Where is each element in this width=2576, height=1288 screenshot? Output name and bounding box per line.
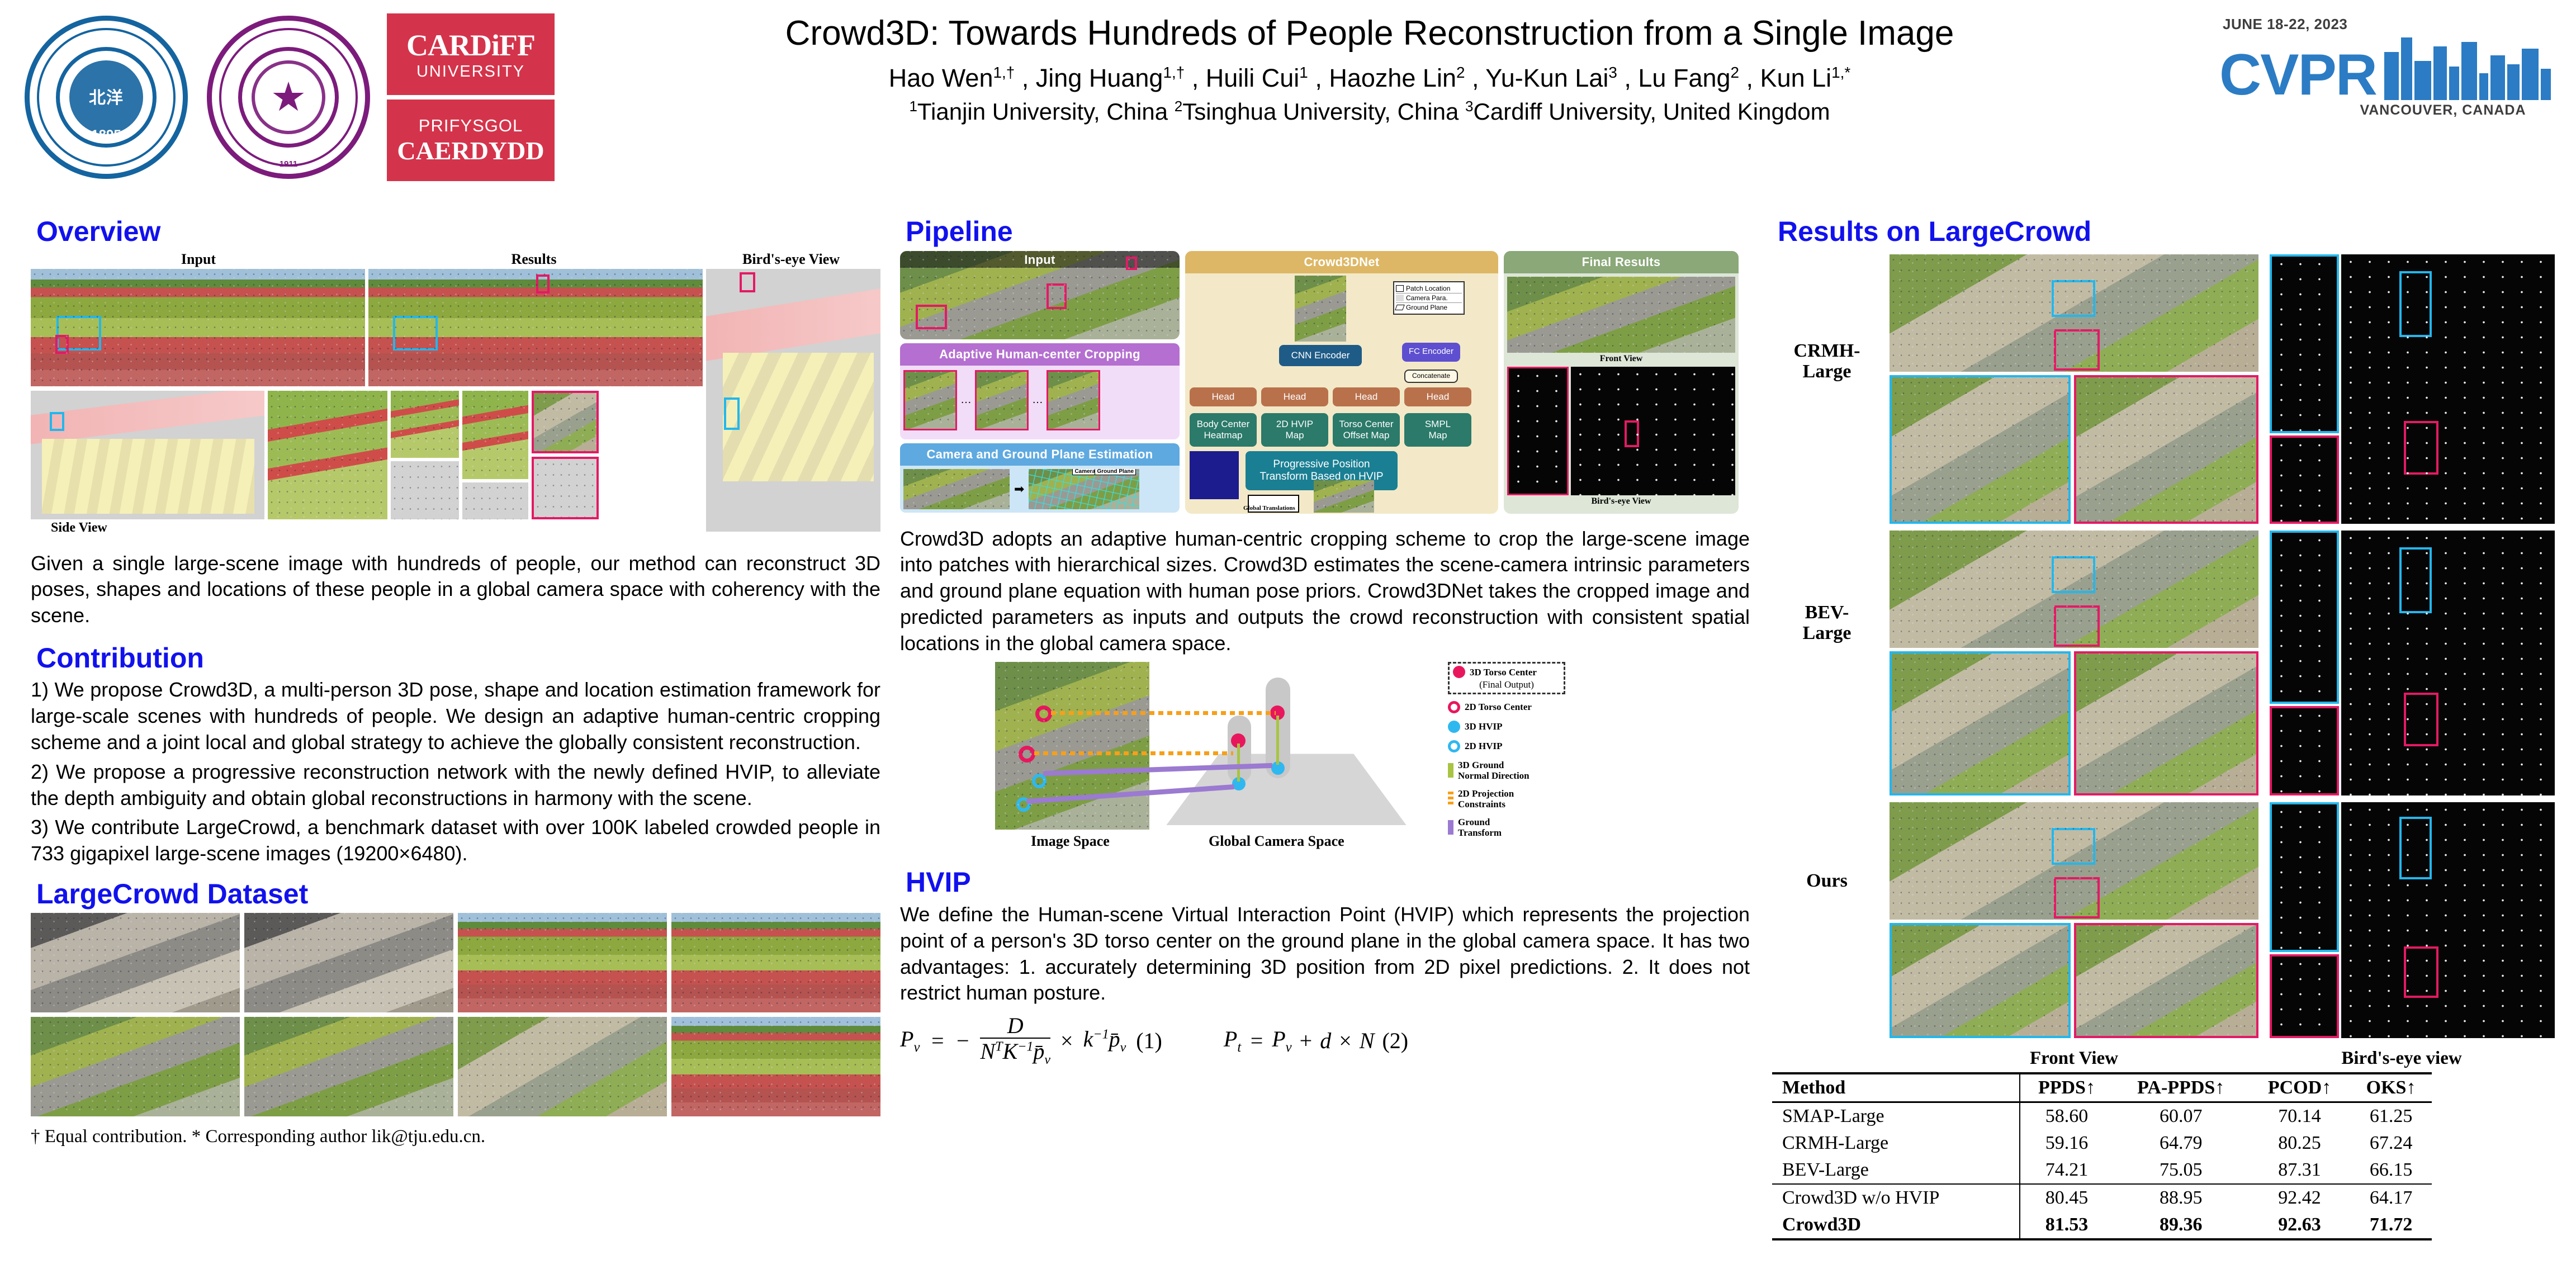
overview-birdseye-image [706, 269, 880, 532]
ground-normal-arrow [1276, 716, 1279, 765]
pipeline-final-label: Final Results [1504, 251, 1739, 273]
table-cell-value: 59.16 [2020, 1130, 2113, 1157]
poster-header: 北洋 1895 ★ 1911 CARDiFF UNIVERSITY PRIFYS… [0, 0, 2576, 207]
2d-torso-center-marker [1035, 705, 1052, 722]
3d-hvip-icon [1448, 721, 1460, 733]
2d-torso-center-icon [1448, 701, 1460, 713]
2d-torso-center-marker [1019, 746, 1035, 763]
table-row: BEV-Large74.2175.0587.3166.15 [1772, 1157, 2432, 1184]
dataset-image [458, 913, 667, 1012]
overview-figure: Side View [31, 269, 880, 532]
magenta-roi-box [1625, 420, 1639, 447]
results-bev-magenta-ours [2270, 954, 2339, 1038]
magenta-roi-box [1046, 283, 1067, 309]
hvip-figure: 3D Torso Center (Final Output) 2D Torso … [995, 662, 1565, 846]
magenta-roi-box [2054, 877, 2100, 918]
projection-constraint-line [1034, 751, 1233, 755]
hvip-legend: 3D Torso Center (Final Output) 2D Torso … [1448, 662, 1565, 845]
tju-year: 1895 [22, 127, 190, 143]
pipeline-text: Crowd3D adopts an adaptive human-centric… [900, 526, 1750, 657]
crop-patch [1046, 370, 1100, 430]
2d-hvip-icon [1448, 740, 1460, 752]
ground-normal-arrow [1237, 744, 1240, 782]
overview-zoom-crowd-4 [532, 391, 599, 453]
table-cell-value: 58.60 [2020, 1102, 2113, 1130]
cardiff-line4: CAERDYDD [397, 136, 544, 165]
net-input-patch [1295, 276, 1346, 342]
results-bev-magenta-crmh [2270, 435, 2339, 524]
table-cell-method: SMAP-Large [1772, 1102, 2020, 1130]
ground-plane-image: Camera Ground Plane [1029, 469, 1139, 509]
magenta-roi-box [916, 305, 947, 329]
crop-patch [975, 370, 1029, 430]
legend-3d-torso-center: 3D Torso Center [1470, 667, 1537, 678]
cyan-roi-box [50, 412, 64, 431]
legend-ground-plane: Ground Plane [1406, 304, 1447, 311]
tsinghua-university-logo: ★ 1911 [205, 13, 372, 181]
ground-transform-icon [1448, 820, 1453, 835]
hvip-caption-global-space: Global Camera Space [1209, 833, 1344, 850]
pipeline-diagram: Input Adaptive Human-center Cropping … … [900, 251, 1739, 514]
cvpr-dates: JUNE 18-22, 2023 [2223, 16, 2566, 33]
table-cell-value: 89.36 [2113, 1211, 2249, 1239]
results-figure: CRMH- Large BEV- Large Ours [1772, 251, 2555, 1045]
results-zoom-cyan-ours [1890, 923, 2071, 1038]
pipeline-heading: Pipeline [906, 217, 1750, 247]
caption-sideview: Side View [51, 520, 107, 536]
dataset-gallery [31, 913, 880, 1116]
cvpr-brand: CVPR [2219, 50, 2376, 100]
table-cell-method: CRMH-Large [1772, 1130, 2020, 1157]
table-row: SMAP-Large58.6060.0770.1461.25 [1772, 1102, 2432, 1130]
overview-results-image [368, 269, 703, 386]
pipeline-camera-label: Camera and Ground Plane Estimation [900, 443, 1180, 466]
table-cell-value: 92.42 [2249, 1184, 2350, 1211]
legend-patch-location: Patch Location [1406, 285, 1450, 292]
equation-2: Pt= Pv+ d×N (2) [1224, 1026, 1408, 1055]
head-node-2: Head [1261, 387, 1328, 406]
table-header-row: Method PPDS↑ PA-PPDS↑ PCOD↑ OKS↑ [1772, 1073, 2432, 1102]
3d-torso-center-icon [1453, 666, 1465, 678]
results-bev-cyan-crmh [2270, 254, 2339, 433]
th-oks: OKS↑ [2350, 1073, 2432, 1102]
ground-normal-icon [1448, 763, 1453, 778]
column-left: Overview Input Results Bird's-eye View [31, 217, 880, 1147]
title-block: Crowd3D: Towards Hundreds of People Reco… [537, 13, 2203, 126]
heatmap-thumbnail [1190, 451, 1239, 499]
overview-zoom-mesh-3 [532, 457, 599, 519]
caption-front-view: Front View [1890, 1048, 2258, 1069]
table-cell-value: 67.24 [2350, 1130, 2432, 1157]
legend-2d-torso-center: 2D Torso Center [1465, 702, 1532, 712]
final-bev-image [1571, 367, 1735, 495]
cardiff-line3: PRIFYSGOL [419, 116, 523, 136]
legend-camera-para: Camera Para. [1406, 294, 1448, 302]
overview-zoom-mesh-2 [462, 482, 528, 519]
table-row: Crowd3D w/o HVIP80.4588.9592.4264.17 [1772, 1184, 2432, 1211]
logo-group: 北洋 1895 ★ 1911 CARDiFF UNIVERSITY PRIFYS… [22, 13, 555, 181]
contribution-item-3: 3) We contribute LargeCrowd, a benchmark… [31, 815, 880, 867]
table-cell-value: 88.95 [2113, 1184, 2249, 1211]
table-cell-method: Crowd3D [1772, 1211, 2020, 1239]
pipeline-cropping-label: Adaptive Human-center Cropping [900, 343, 1180, 366]
cyan-roi-box [2052, 828, 2095, 865]
table-cell-value: 61.25 [2350, 1102, 2432, 1130]
contribution-item-2: 2) We propose a progressive reconstructi… [31, 759, 880, 812]
legend-ground-normal: 3D Ground Normal Direction [1458, 760, 1529, 781]
dataset-image [31, 913, 240, 1012]
projection-constraints-icon [1448, 792, 1453, 806]
results-bev-full-bev [2341, 531, 2555, 795]
magenta-roi-box [740, 272, 755, 292]
final-front-view-image [1507, 277, 1735, 353]
overview-zoom-mesh-1 [391, 461, 459, 519]
body-center-heatmap-node: Body Center Heatmap [1190, 413, 1257, 447]
dataset-image [244, 1017, 453, 1116]
th-method: Method [1772, 1073, 2020, 1102]
results-bev-magenta-bev [2270, 706, 2339, 795]
contribution-heading: Contribution [36, 643, 880, 673]
results-view-captions: Front View Bird's-eye view [1772, 1048, 2555, 1069]
legend-3d-torso-center-sub: (Final Output) [1453, 679, 1560, 690]
concatenate-node: Concatenate [1404, 370, 1458, 383]
results-bev-full-ours [2341, 802, 2555, 1038]
overview-heading: Overview [36, 217, 880, 247]
caption-input: Input [31, 251, 366, 268]
cardiff-university-logo: CARDiFF UNIVERSITY PRIFYSGOL CAERDYDD [387, 13, 555, 181]
affiliation-list: 1Tianjin University, China 2Tsinghua Uni… [537, 98, 2203, 126]
crop-patch [903, 370, 957, 430]
smpl-map-node: SMPL Map [1404, 413, 1471, 447]
cyan-roi-box [724, 397, 740, 430]
column-middle: Pipeline Input Adaptive Human-center Cro… [900, 217, 1750, 1067]
net-output-image [1314, 480, 1374, 513]
cardiff-line2: UNIVERSITY [416, 63, 525, 81]
dataset-image [458, 1017, 667, 1116]
final-front-view-caption: Front View [1507, 354, 1735, 364]
cyan-roi-box [2399, 271, 2432, 337]
table-cell-value: 87.31 [2249, 1157, 2350, 1184]
dataset-heading: LargeCrowd Dataset [36, 879, 880, 909]
ground-plane-label: Ground Plane [1095, 469, 1136, 475]
table-cell-value: 66.15 [2350, 1157, 2432, 1184]
table-cell-value: 64.17 [2350, 1184, 2432, 1211]
magenta-roi-box [2404, 421, 2438, 475]
legend-3d-hvip: 3D HVIP [1465, 721, 1503, 732]
table-cell-value: 70.14 [2249, 1102, 2350, 1130]
pipeline-cropping-panel: Adaptive Human-center Cropping … … [900, 343, 1180, 439]
hvip-caption-image-space: Image Space [1031, 833, 1110, 850]
overview-zoom-crowd-1 [268, 391, 387, 519]
page-title: Crowd3D: Towards Hundreds of People Reco… [537, 13, 2203, 53]
cyan-roi-box [56, 316, 101, 351]
overview-zoom-crowd-3 [462, 391, 528, 479]
results-bev-cyan-ours [2270, 802, 2339, 952]
table-cell-value: 64.79 [2113, 1130, 2249, 1157]
results-front-image-bev [1890, 531, 2258, 648]
table-cell-value: 71.72 [2350, 1211, 2432, 1239]
results-zoom-magenta-crmh [2074, 375, 2258, 524]
pipeline-net-label: Crowd3DNet [1185, 251, 1498, 273]
caption-birdseye-view: Bird's-eye view [2258, 1048, 2545, 1069]
equation-1-number: (1) [1136, 1027, 1162, 1054]
vancouver-skyline-icon [2382, 33, 2566, 100]
results-row-label-bev: BEV- Large [1772, 602, 1882, 644]
overview-text: Given a single large-scene image with hu… [31, 551, 880, 629]
table-cell-value: 75.05 [2113, 1157, 2249, 1184]
torso-offset-map-node: Torso Center Offset Map [1333, 413, 1400, 447]
magenta-roi-box [536, 274, 550, 293]
camera-input-image [903, 469, 1010, 509]
global-translations-label: Global Translations [1243, 505, 1295, 512]
patch-location-icon [1396, 285, 1404, 292]
author-list: Hao Wen1,† , Jing Huang1,† , Huili Cui1 … [537, 63, 2203, 93]
table-cell-value: 80.25 [2249, 1130, 2350, 1157]
equation-2-number: (2) [1382, 1027, 1408, 1054]
legend-2d-hvip: 2D HVIP [1465, 741, 1503, 751]
cyan-roi-box [2052, 556, 2095, 593]
2d-hvip-marker [1032, 774, 1046, 788]
results-row-label-ours: Ours [1772, 870, 1882, 891]
ground-plane-icon [1395, 305, 1405, 310]
table-row: Crowd3D81.5389.3692.6371.72 [1772, 1211, 2432, 1239]
tianjin-university-logo: 北洋 1895 [22, 13, 190, 181]
table-cell-value: 74.21 [2020, 1157, 2113, 1184]
overview-captions: Input Results Bird's-eye View [31, 251, 880, 268]
hvip-global-camera-space [1155, 662, 1418, 830]
results-row-label-crmh: CRMH- Large [1772, 340, 1882, 382]
cvpr-logo: JUNE 18-22, 2023 CVPR VANCOUVER, CANADA [2219, 16, 2566, 119]
results-heading: Results on LargeCrowd [1778, 217, 2555, 247]
cyan-roi-box [2052, 280, 2095, 317]
table-cell-value: 60.07 [2113, 1102, 2249, 1130]
final-bev-caption: Bird's-eye View [1507, 496, 1735, 506]
results-zoom-cyan-crmh [1890, 375, 2071, 524]
pipeline-final-panel: Final Results Front View Bird's-eye View [1504, 251, 1739, 514]
hvip-text: We define the Human-scene Virtual Intera… [900, 902, 1750, 1006]
magenta-roi-box [2404, 693, 2438, 746]
dataset-image [31, 1017, 240, 1116]
pipeline-input-panel: Input [900, 251, 1180, 339]
dataset-image [244, 913, 453, 1012]
pipeline-camera-panel: Camera and Ground Plane Estimation ➡ Cam… [900, 443, 1180, 513]
overview-zoom-crowd-2 [391, 391, 459, 458]
hvip-heading: HVIP [906, 868, 1750, 897]
caption-birdseye: Bird's-eye View [702, 251, 880, 268]
cnn-encoder-node: CNN Encoder [1279, 345, 1362, 366]
column-right: Results on LargeCrowd CRMH- Large BEV- L… [1772, 217, 2555, 1240]
dataset-image [671, 913, 880, 1012]
overview-sideview-image [31, 391, 264, 519]
ellipsis: … [960, 394, 972, 406]
final-bev-crop [1507, 367, 1569, 495]
pipeline-input-label: Input [900, 251, 1180, 269]
camera-label: Camera [1072, 469, 1097, 475]
magenta-roi-box [1126, 257, 1137, 270]
contribution-item-1: 1) We propose Crowd3D, a multi-person 3D… [31, 677, 880, 755]
caption-results: Results [366, 251, 702, 268]
results-bev-full-crmh [2341, 254, 2555, 524]
results-zoom-magenta-ours [2074, 923, 2258, 1038]
magenta-roi-box [2404, 946, 2438, 998]
cardiff-line1: CARDiFF [406, 28, 535, 63]
fc-encoder-node: FC Encoder [1402, 343, 1460, 362]
cyan-roi-box [2399, 817, 2432, 879]
results-zoom-cyan-bev [1890, 651, 2071, 795]
projection-constraint-line [1051, 711, 1276, 715]
magenta-roi-box [2054, 329, 2100, 371]
table-cell-value: 81.53 [2020, 1211, 2113, 1239]
table-cell-value: 92.63 [2249, 1211, 2350, 1239]
pipeline-net-panel: Crowd3DNet Patch Location Camera Para. G… [1185, 251, 1498, 514]
results-zoom-magenta-bev [2074, 651, 2258, 795]
cyan-roi-box [393, 316, 438, 351]
dataset-image [671, 1017, 880, 1116]
tju-seal-text: 北洋 [22, 84, 190, 108]
results-bev-cyan-bev [2270, 531, 2339, 704]
hvip-map-node: 2D HVIP Map [1261, 413, 1328, 447]
legend-ground-transform: Ground Transform [1458, 817, 1502, 838]
camera-icon [1396, 295, 1404, 301]
hvip-image-space-photo [995, 662, 1149, 830]
table-row: CRMH-Large59.1664.7980.2567.24 [1772, 1130, 2432, 1157]
footnote: † Equal contribution. * Corresponding au… [31, 1126, 880, 1147]
table-cell-method: Crowd3D w/o HVIP [1772, 1184, 2020, 1211]
star-icon: ★ [271, 77, 307, 117]
table-cell-method: BEV-Large [1772, 1157, 2020, 1184]
head-node-4: Head [1404, 387, 1471, 406]
ellipsis: … [1032, 394, 1043, 406]
th-ppds: PPDS↑ [2020, 1073, 2113, 1102]
results-front-image-crmh [1890, 254, 2258, 372]
head-node-3: Head [1333, 387, 1400, 406]
table-cell-value: 80.45 [2020, 1184, 2113, 1211]
results-front-image-ours [1890, 802, 2258, 920]
magenta-roi-box [2054, 605, 2100, 647]
equation-1: Pv=− D NTK−1p̄v × k−1p̄v (1) [900, 1014, 1162, 1067]
results-table: Method PPDS↑ PA-PPDS↑ PCOD↑ OKS↑ SMAP-La… [1772, 1072, 2432, 1240]
tsinghua-year: 1911 [205, 159, 372, 169]
arrow-right-icon: ➡ [1014, 482, 1024, 496]
th-pcod: PCOD↑ [2249, 1073, 2350, 1102]
overview-input-image [31, 269, 365, 386]
legend-projection-constraints: 2D Projection Constraints [1458, 788, 1514, 809]
cyan-roi-box [2399, 547, 2432, 613]
th-pa-ppds: PA-PPDS↑ [2113, 1073, 2249, 1102]
magenta-roi-box [55, 335, 69, 354]
equation-row: Pv=− D NTK−1p̄v × k−1p̄v (1) Pt= Pv+ d×N… [900, 1014, 1750, 1067]
head-node-1: Head [1190, 387, 1257, 406]
